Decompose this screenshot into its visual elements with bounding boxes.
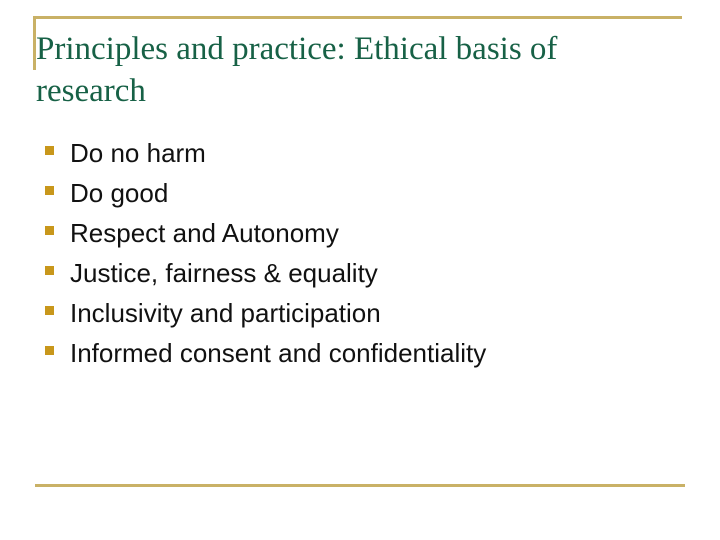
slide-bullet-list: Do no harm Do good Respect and Autonomy … — [44, 133, 684, 373]
list-item-label: Do no harm — [70, 138, 206, 168]
slide-title: Principles and practice: Ethical basis o… — [36, 28, 636, 112]
list-item: Inclusivity and participation — [44, 293, 684, 333]
footer-rule-decoration — [35, 484, 685, 487]
list-item-label: Inclusivity and participation — [70, 298, 381, 328]
list-item: Do good — [44, 173, 684, 213]
list-item-label: Respect and Autonomy — [70, 218, 339, 248]
square-bullet-icon — [45, 146, 54, 155]
square-bullet-icon — [45, 266, 54, 275]
title-top-rule-decoration — [33, 16, 682, 19]
square-bullet-icon — [45, 346, 54, 355]
square-bullet-icon — [45, 306, 54, 315]
list-item: Respect and Autonomy — [44, 213, 684, 253]
list-item: Informed consent and confidentiality — [44, 333, 684, 373]
list-item-label: Informed consent and confidentiality — [70, 338, 486, 368]
presentation-slide: Principles and practice: Ethical basis o… — [0, 0, 720, 540]
list-item: Do no harm — [44, 133, 684, 173]
list-item-label: Do good — [70, 178, 168, 208]
list-item: Justice, fairness & equality — [44, 253, 684, 293]
square-bullet-icon — [45, 186, 54, 195]
list-item-label: Justice, fairness & equality — [70, 258, 378, 288]
square-bullet-icon — [45, 226, 54, 235]
